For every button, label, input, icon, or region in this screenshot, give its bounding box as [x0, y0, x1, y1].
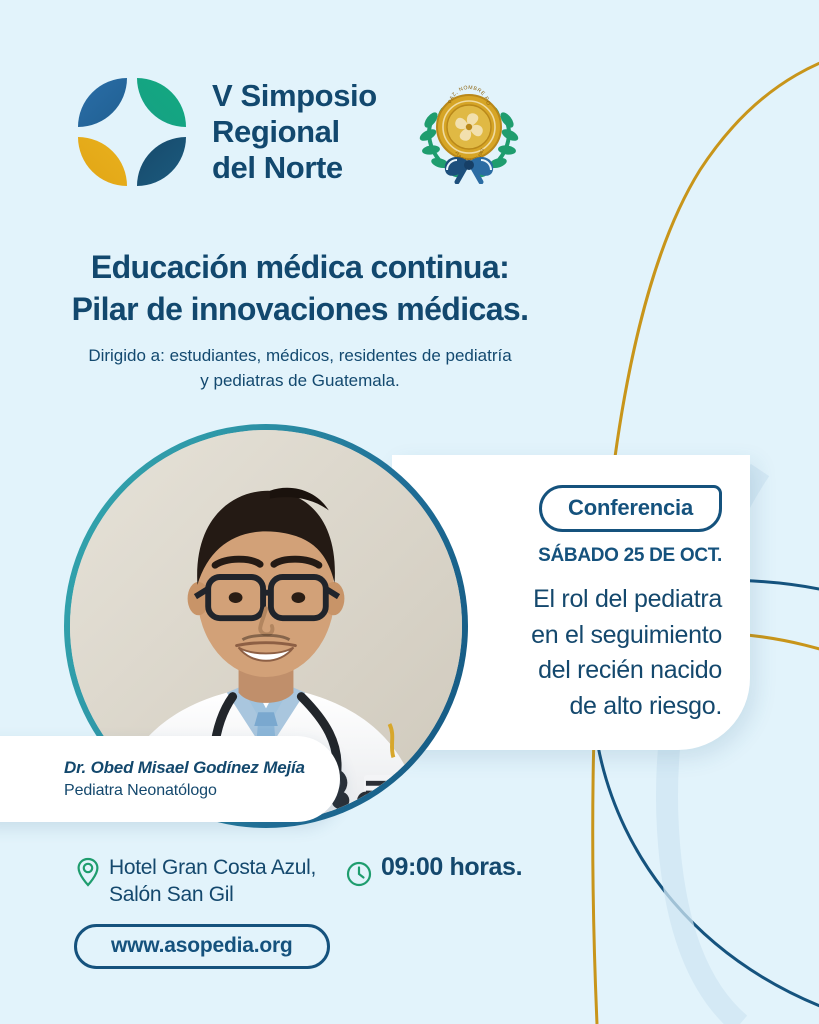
time-text: 09:00 horas. [381, 853, 522, 882]
brand-title: V Simposio Regional del Norte [212, 78, 377, 186]
speaker-name: Dr. Obed Misael Godínez Mejía [64, 758, 340, 778]
v-simposio-logo [78, 78, 186, 186]
map-pin-icon [76, 857, 100, 887]
speaker-role: Pediatra Neonatólogo [64, 782, 340, 800]
asopedia-gold-medal-emblem: PAZ, NOMBRE POR EL NIÑO FUNDADA EN 1962 [417, 80, 521, 184]
conferencia-badge: Conferencia [539, 485, 722, 532]
logo-leaf-top-right [137, 78, 186, 127]
title-line-2: Pilar de innovaciones médicas. [72, 291, 529, 327]
time-item: 09:00 horas. [346, 855, 522, 887]
venue-item: Hotel Gran Costa Azul, Salón San Gil [76, 855, 316, 909]
ribbon-bow [445, 157, 493, 182]
event-details: Hotel Gran Costa Azul, Salón San Gil 09:… [76, 855, 522, 909]
poster-header: V Simposio Regional del Norte [78, 78, 521, 186]
poster-canvas: V Simposio Regional del Norte [0, 0, 819, 1024]
logo-leaf-bottom-right [137, 137, 186, 186]
venue-text: Hotel Gran Costa Azul, Salón San Gil [109, 855, 316, 909]
website-button[interactable]: www.asopedia.org [74, 924, 330, 969]
page-title: Educación médica continua: Pilar de inno… [0, 246, 600, 330]
title-line-1: Educación médica continua: [91, 249, 509, 285]
speaker-name-card: Dr. Obed Misael Godínez Mejía Pediatra N… [0, 736, 340, 822]
headline-subtitle: Dirigido a: estudiantes, médicos, reside… [0, 344, 600, 392]
clock-icon [346, 861, 372, 887]
logo-leaf-bottom-left [78, 137, 127, 186]
headline-block: Educación médica continua: Pilar de inno… [0, 246, 600, 393]
logo-leaf-top-left [78, 78, 127, 127]
